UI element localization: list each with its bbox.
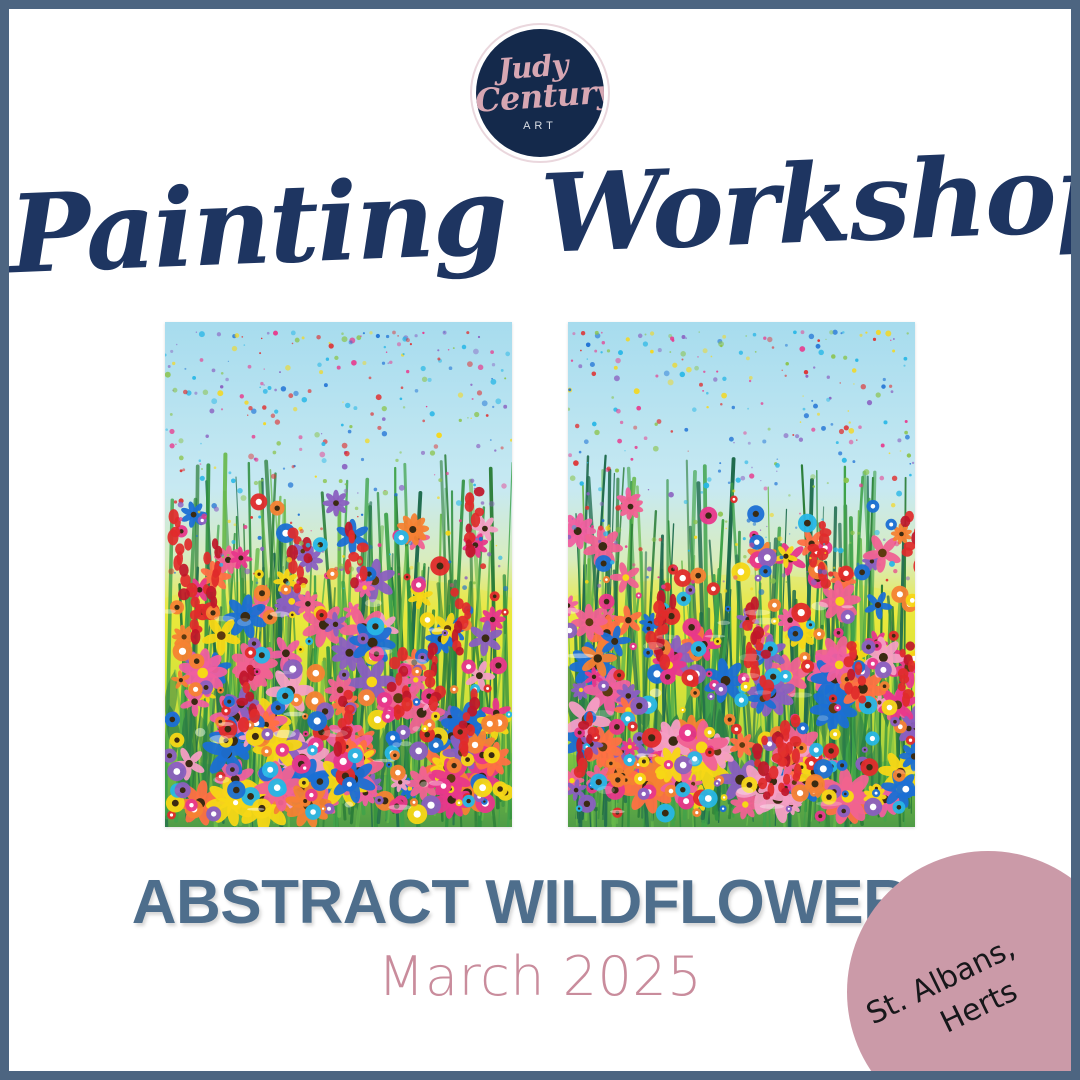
poster-canvas: Judy Century ART Painting Workshop ABSTR… — [0, 0, 1080, 1080]
logo-tagline: ART — [523, 120, 557, 132]
abstract-wildflowers-painting-left — [165, 322, 512, 827]
artwork-row — [9, 322, 1071, 827]
page-title: Painting Workshop — [7, 141, 1072, 290]
logo-disc: Judy Century ART — [476, 29, 604, 157]
logo-script-line2: Century — [476, 77, 604, 116]
abstract-wildflowers-painting-right — [568, 322, 915, 827]
brand-logo: Judy Century ART — [470, 23, 610, 163]
